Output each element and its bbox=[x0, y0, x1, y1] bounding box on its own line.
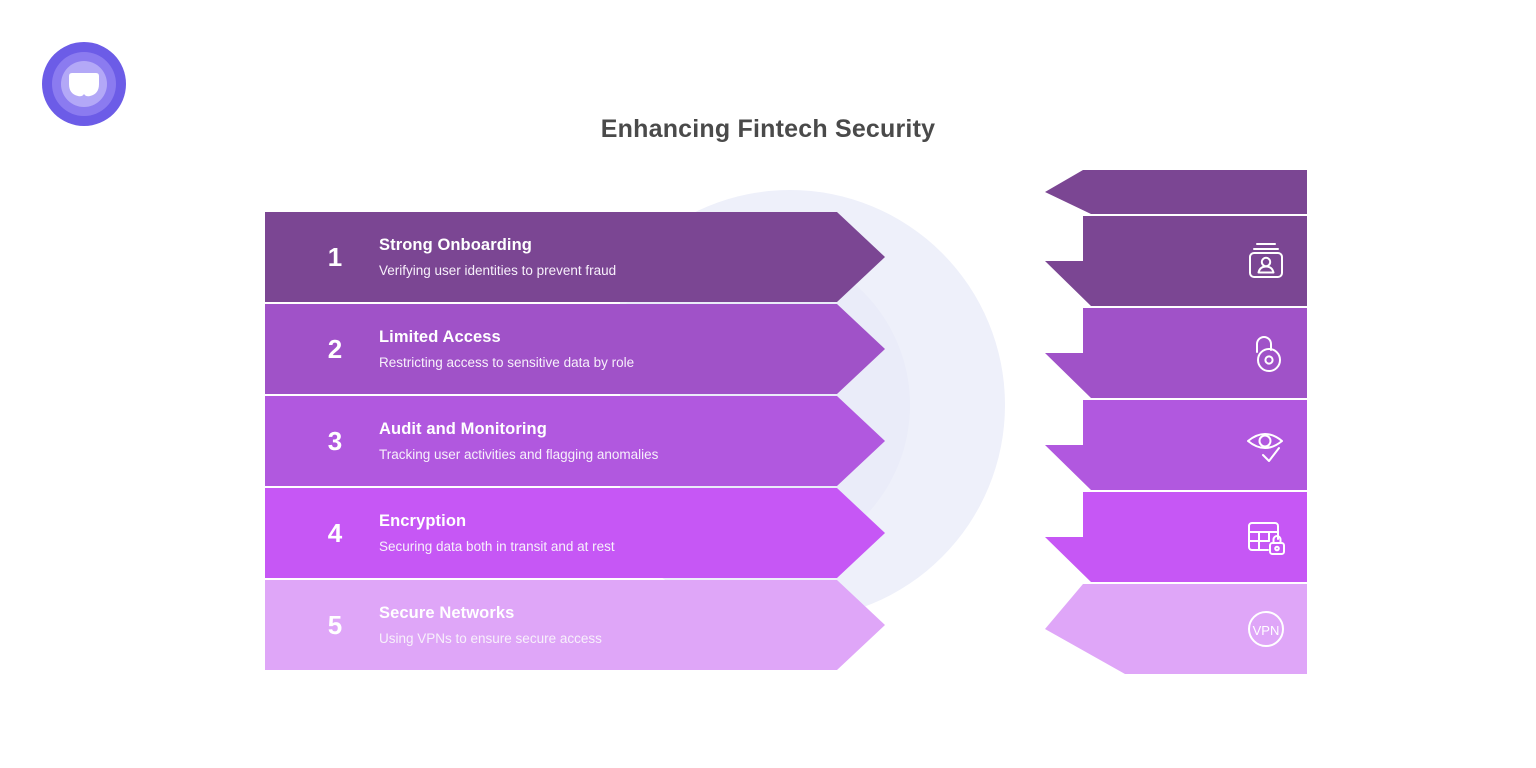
step-title: Limited Access bbox=[379, 328, 634, 346]
infographic-canvas: Enhancing Fintech Security 1 Strong Onbo… bbox=[0, 0, 1536, 768]
table-lock-icon bbox=[1243, 514, 1289, 560]
page-title: Enhancing Fintech Security bbox=[0, 115, 1536, 144]
step-text: Secure Networks Using VPNs to ensure sec… bbox=[379, 604, 602, 647]
step-text: Audit and Monitoring Tracking user activ… bbox=[379, 420, 658, 463]
icon-ribbon-2[interactable] bbox=[1045, 308, 1307, 398]
step-text: Encryption Securing data both in transit… bbox=[379, 512, 615, 555]
step-text: Strong Onboarding Verifying user identit… bbox=[379, 236, 616, 279]
step-description: Restricting access to sensitive data by … bbox=[379, 355, 634, 371]
icon-ribbon-1[interactable] bbox=[1045, 216, 1307, 306]
step-title: Audit and Monitoring bbox=[379, 420, 658, 438]
step-arrow-list: 1 Strong Onboarding Verifying user ident… bbox=[265, 212, 885, 675]
icon-ribbon-3[interactable] bbox=[1045, 400, 1307, 490]
step-text: Limited Access Restricting access to sen… bbox=[379, 328, 634, 371]
step-arrow-2[interactable]: 2 Limited Access Restricting access to s… bbox=[265, 304, 885, 394]
step-description: Securing data both in transit and at res… bbox=[379, 539, 615, 555]
step-description: Tracking user activities and flagging an… bbox=[379, 447, 658, 463]
icon-ribbon-list: VPN bbox=[1045, 170, 1307, 675]
step-arrow-4[interactable]: 4 Encryption Securing data both in trans… bbox=[265, 488, 885, 578]
step-number: 4 bbox=[307, 518, 363, 549]
eye-check-icon bbox=[1243, 422, 1289, 468]
step-description: Using VPNs to ensure secure access bbox=[379, 631, 602, 647]
ribbon-cap bbox=[1045, 170, 1307, 214]
icon-ribbon-5[interactable]: VPN bbox=[1045, 584, 1307, 674]
step-title: Encryption bbox=[379, 512, 615, 530]
step-title: Strong Onboarding bbox=[379, 236, 616, 254]
open-padlock-icon bbox=[1243, 330, 1289, 376]
step-number: 1 bbox=[307, 242, 363, 273]
id-card-icon bbox=[1243, 238, 1289, 284]
svg-text:VPN: VPN bbox=[1253, 623, 1280, 638]
step-arrow-5[interactable]: 5 Secure Networks Using VPNs to ensure s… bbox=[265, 580, 885, 670]
vpn-icon: VPN bbox=[1243, 606, 1289, 652]
icon-ribbon-4[interactable] bbox=[1045, 492, 1307, 582]
step-number: 5 bbox=[307, 610, 363, 641]
step-title: Secure Networks bbox=[379, 604, 602, 622]
step-description: Verifying user identities to prevent fra… bbox=[379, 263, 616, 279]
step-number: 2 bbox=[307, 334, 363, 365]
step-arrow-3[interactable]: 3 Audit and Monitoring Tracking user act… bbox=[265, 396, 885, 486]
step-number: 3 bbox=[307, 426, 363, 457]
step-arrow-1[interactable]: 1 Strong Onboarding Verifying user ident… bbox=[265, 212, 885, 302]
